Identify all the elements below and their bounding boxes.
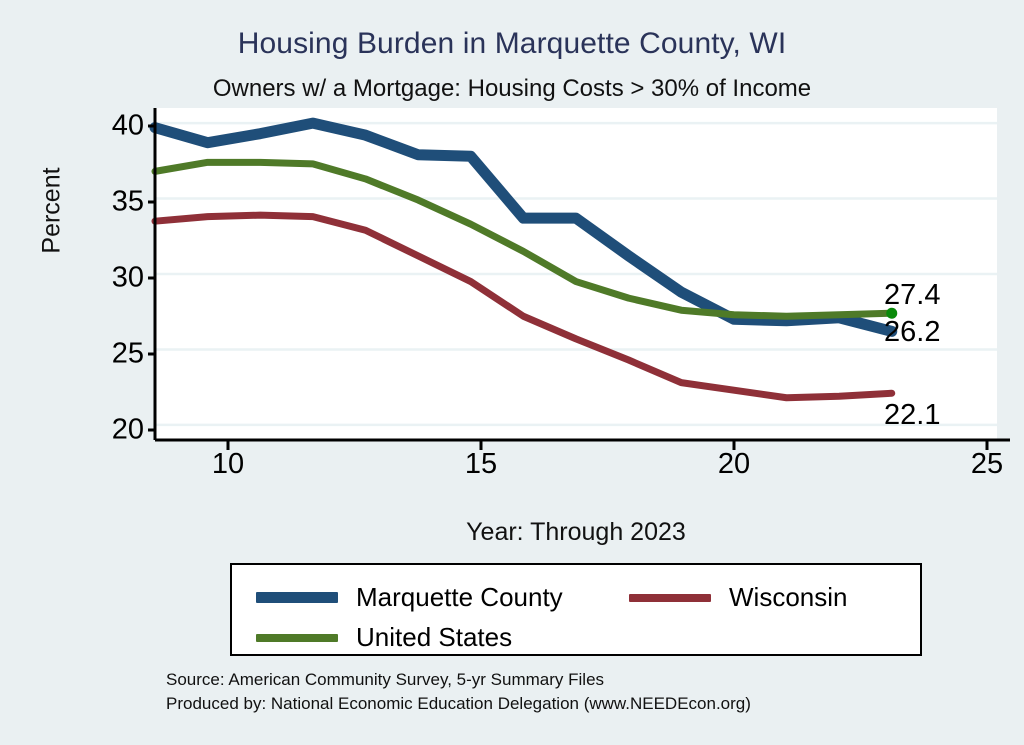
chart-footer: Source: American Community Survey, 5-yr …	[166, 668, 751, 716]
legend-swatch-marquette-county	[256, 592, 338, 603]
end-label-united-states: 27.4	[884, 279, 940, 312]
legend-swatch-wisconsin	[629, 594, 711, 602]
legend-label-wisconsin: Wisconsin	[729, 582, 847, 613]
legend-item-united-states: United States	[256, 622, 512, 653]
chart-legend: Marquette County Wisconsin United States	[230, 563, 922, 656]
legend-item-marquette-county: Marquette County	[256, 582, 563, 613]
end-label-marquette-county: 26.2	[884, 316, 940, 349]
legend-swatch-united-states	[256, 634, 338, 642]
legend-label-united-states: United States	[356, 622, 512, 653]
end-label-wisconsin: 22.1	[884, 399, 940, 432]
chart-figure: Housing Burden in Marquette County, WI O…	[0, 0, 1024, 745]
footer-producer: Produced by: National Economic Education…	[166, 692, 751, 716]
legend-label-marquette-county: Marquette County	[356, 582, 563, 613]
legend-item-wisconsin: Wisconsin	[629, 582, 847, 613]
footer-source: Source: American Community Survey, 5-yr …	[166, 668, 751, 692]
